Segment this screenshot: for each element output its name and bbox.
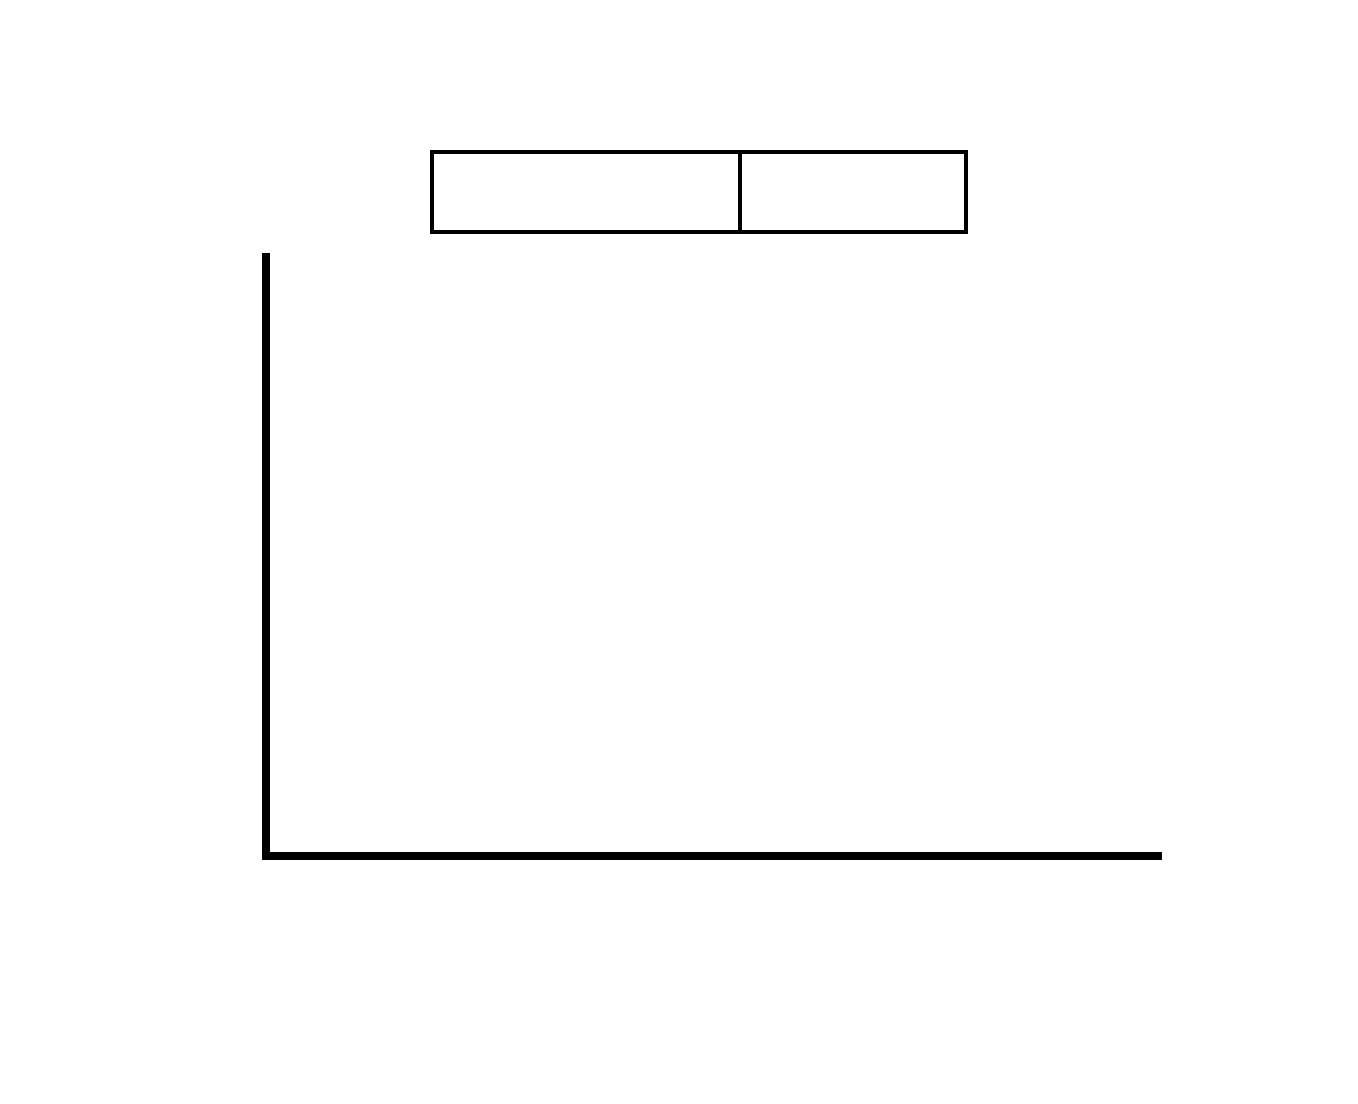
plot-area [0, 0, 1358, 1104]
chart-figure [0, 0, 1358, 1104]
axis-lines [262, 253, 1162, 858]
